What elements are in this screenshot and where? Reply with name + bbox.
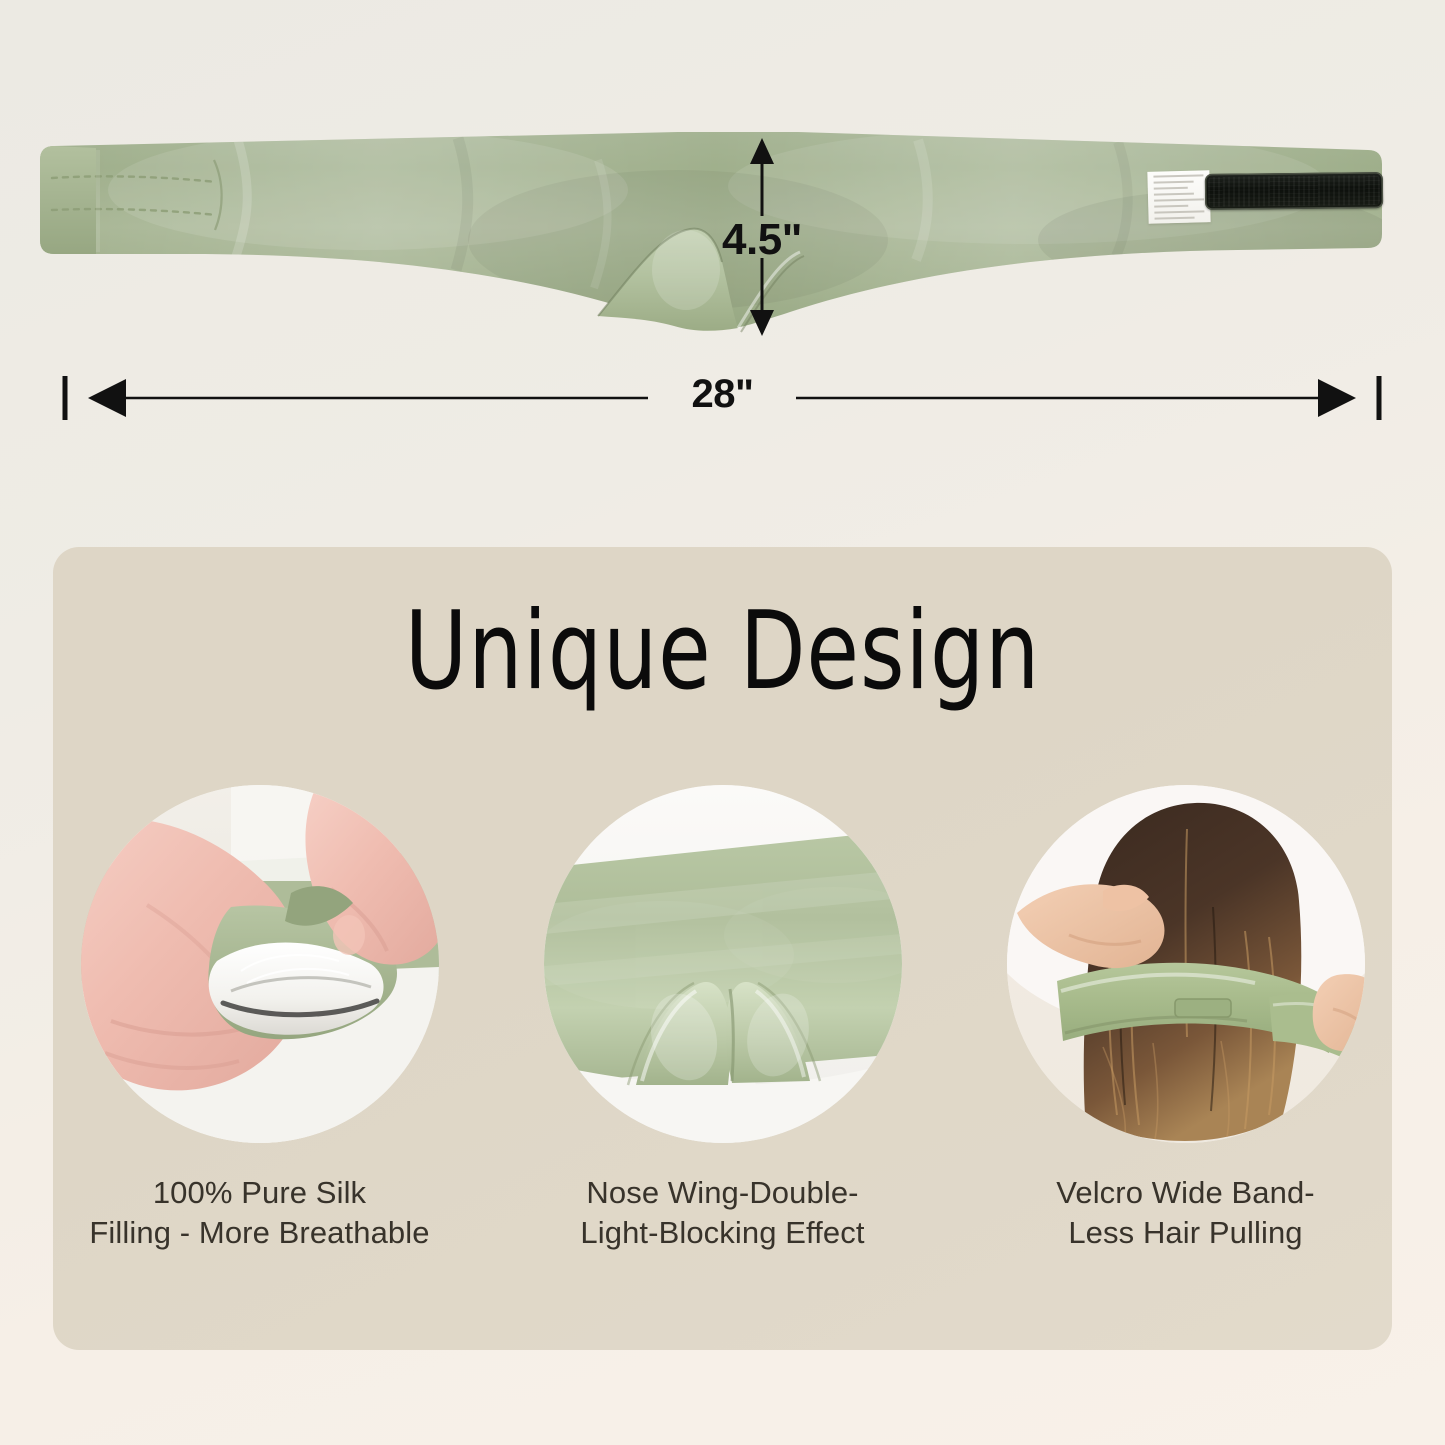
nose-wing-illustration bbox=[544, 785, 902, 1143]
feature-list: 100% Pure Silk Filling - More Breathable bbox=[53, 785, 1392, 1254]
feature-caption: Velcro Wide Band- Less Hair Pulling bbox=[1056, 1173, 1314, 1254]
caption-line-2: Less Hair Pulling bbox=[1068, 1215, 1302, 1250]
caption-line-1: Nose Wing-Double- bbox=[586, 1175, 858, 1210]
width-dimension-label: 28" bbox=[0, 372, 1445, 417]
velcro-strip bbox=[1205, 172, 1383, 210]
silk-filling-illustration bbox=[81, 785, 439, 1143]
feature-caption: Nose Wing-Double- Light-Blocking Effect bbox=[580, 1173, 864, 1254]
caption-line-1: Velcro Wide Band- bbox=[1056, 1175, 1314, 1210]
product-infographic: 4.5" 28" Unique Design bbox=[0, 0, 1445, 1445]
photo-woman-fastening-band bbox=[1007, 785, 1365, 1143]
feature-nose-wing: Nose Wing-Double- Light-Blocking Effect bbox=[538, 785, 908, 1254]
caption-line-1: 100% Pure Silk bbox=[153, 1175, 366, 1210]
height-dimension-label: 4.5" bbox=[722, 215, 802, 265]
silk-sleep-mask-image bbox=[38, 120, 1393, 360]
mask-silhouette bbox=[38, 120, 1393, 360]
photo-nose-wing-closeup bbox=[544, 785, 902, 1143]
feature-caption: 100% Pure Silk Filling - More Breathable bbox=[89, 1173, 429, 1254]
caption-line-2: Filling - More Breathable bbox=[89, 1215, 429, 1250]
product-dimension-section: 4.5" 28" bbox=[0, 0, 1445, 520]
feature-velcro-wide-band: Velcro Wide Band- Less Hair Pulling bbox=[1001, 785, 1371, 1254]
card-title: Unique Design bbox=[133, 595, 1311, 708]
photo-hands-holding-silk-filling bbox=[81, 785, 439, 1143]
unique-design-card: Unique Design bbox=[53, 547, 1392, 1350]
caption-line-2: Light-Blocking Effect bbox=[580, 1215, 864, 1250]
care-label bbox=[1147, 170, 1210, 224]
feature-pure-silk-filling: 100% Pure Silk Filling - More Breathable bbox=[75, 785, 445, 1254]
wide-band-illustration bbox=[1007, 785, 1365, 1143]
